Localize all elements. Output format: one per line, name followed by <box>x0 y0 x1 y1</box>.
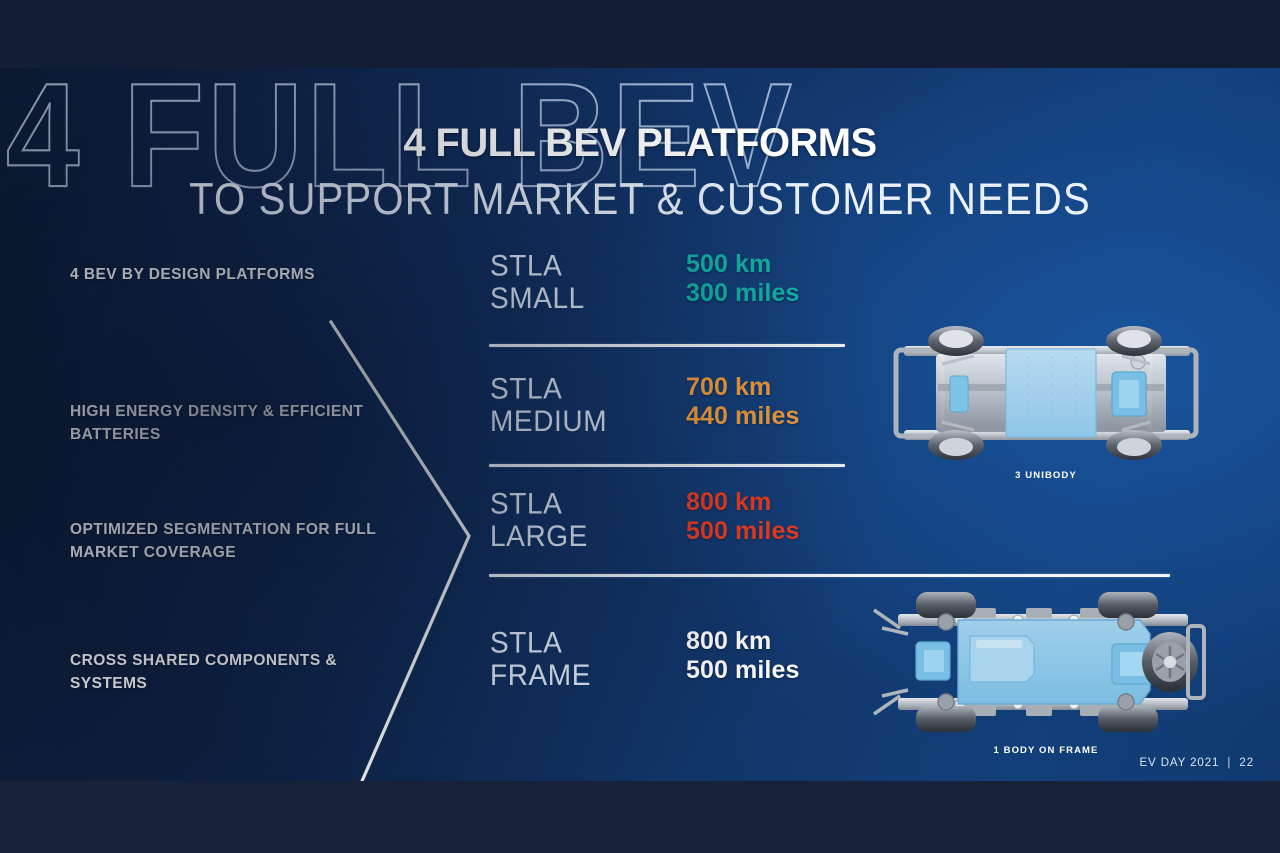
chassis-caption: 3 UNIBODY <box>878 470 1214 481</box>
platform-range: 500 km 300 miles <box>686 250 800 308</box>
chevron-right-icon <box>325 316 485 781</box>
slide-screen: 4 FULL BEV 4 FULL BEV PLATFORMS TO SUPPO… <box>0 0 1280 853</box>
footer-separator: | <box>1223 757 1235 769</box>
platform-range: 800 km 500 miles <box>686 627 800 685</box>
page-number: 22 <box>1239 757 1254 769</box>
unibody-chassis-figure: 3 UNIBODY <box>878 324 1214 484</box>
page-subtitle: TO SUPPORT MARKET & CUSTOMER NEEDS <box>0 176 1280 223</box>
table-row: STLA SMALL 500 km 300 miles <box>489 250 1189 324</box>
platform-range: 700 km 440 miles <box>686 373 800 431</box>
letterbox-band-bottom <box>0 781 1280 853</box>
table-row: STLA LARGE 800 km 500 miles <box>489 488 1189 562</box>
body-on-frame-chassis-figure: 1 BODY ON FRAME <box>858 588 1234 754</box>
list-item: 4 BEV BY DESIGN PLATFORMS <box>70 264 315 287</box>
slide-canvas: 4 FULL BEV 4 FULL BEV PLATFORMS TO SUPPO… <box>0 68 1280 781</box>
unibody-chassis-topview-icon <box>878 324 1214 464</box>
platform-name: STLA LARGE <box>490 488 588 553</box>
platform-name: STLA SMALL <box>490 250 585 315</box>
platform-name: STLA FRAME <box>490 627 591 692</box>
platform-range: 800 km 500 miles <box>686 488 800 546</box>
page-title: 4 FULL BEV PLATFORMS <box>0 123 1280 164</box>
footer-event-label: EV DAY 2021 <box>1139 757 1219 769</box>
row-divider <box>489 344 845 347</box>
row-divider <box>489 464 845 467</box>
body-on-frame-chassis-topview-icon <box>858 588 1234 738</box>
slide-footer: EV DAY 2021 | 22 <box>1139 757 1254 769</box>
chassis-caption: 1 BODY ON FRAME <box>858 745 1234 756</box>
row-divider <box>489 574 1170 577</box>
letterbox-band-top <box>0 0 1280 68</box>
title-block: 4 FULL BEV PLATFORMS TO SUPPORT MARKET &… <box>0 123 1280 218</box>
platform-name: STLA MEDIUM <box>490 373 607 438</box>
